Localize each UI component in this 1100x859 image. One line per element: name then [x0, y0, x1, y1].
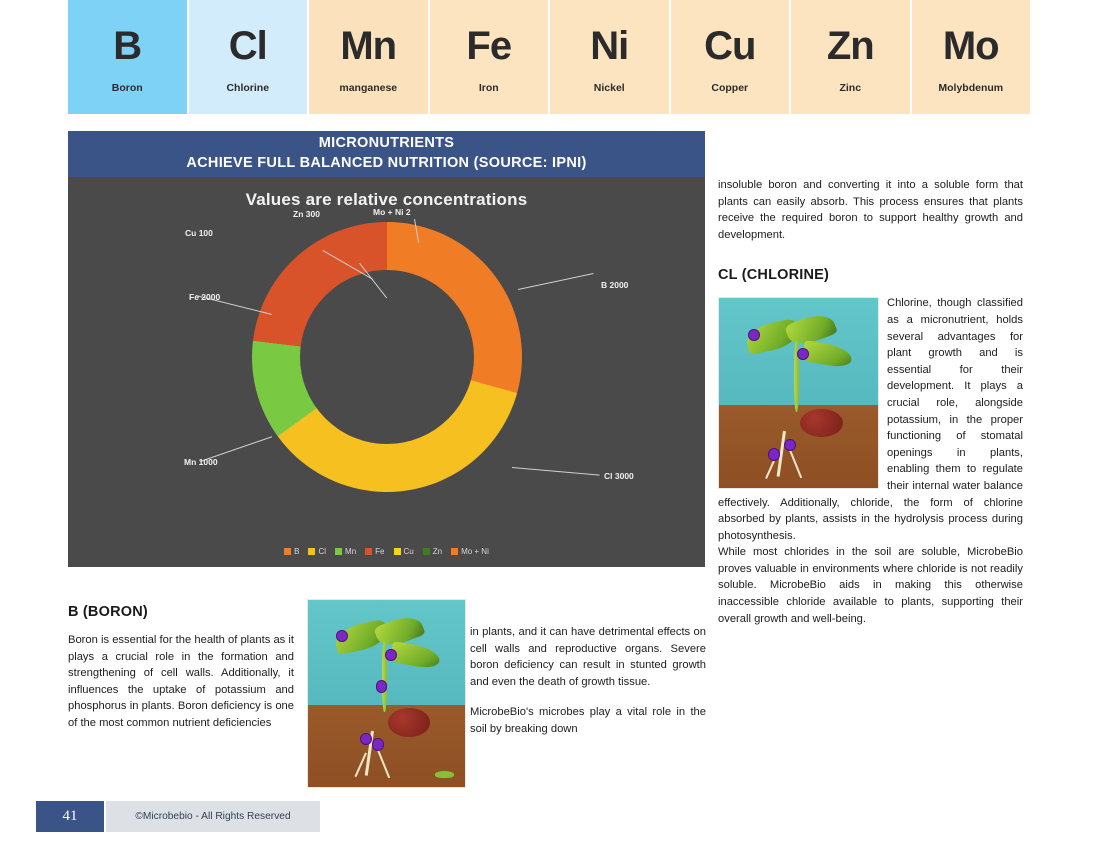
chart-label-b: B 2000 — [601, 280, 628, 290]
page-number-badge: 41 — [36, 801, 104, 832]
chlorine-seedling-image — [718, 297, 879, 489]
element-tab-strip: B Boron Cl Chlorine Mn manganese Fe Iron… — [68, 0, 1030, 114]
chart-label-zn: Zn 300 — [293, 209, 320, 219]
legend-item: Zn — [423, 547, 442, 556]
tab-label: Chlorine — [226, 82, 269, 94]
leader-line — [518, 273, 594, 290]
tab-zinc[interactable]: Zn Zinc — [791, 0, 912, 114]
legend-item: Mn — [335, 547, 356, 556]
legend-swatch — [394, 548, 401, 555]
tab-molybdenum[interactable]: Mo Molybdenum — [912, 0, 1031, 114]
chart-label-cu: Cu 100 — [185, 228, 213, 238]
microbe-dot-icon — [360, 733, 372, 745]
legend-swatch — [451, 548, 458, 555]
legend-label: Cu — [404, 547, 414, 556]
microbe-dot-icon — [372, 738, 384, 750]
chart-label-moni: Mo + Ni 2 — [373, 207, 411, 217]
tab-manganese[interactable]: Mn manganese — [309, 0, 430, 114]
microbe-dot-icon — [797, 348, 809, 360]
tab-copper[interactable]: Cu Copper — [671, 0, 792, 114]
legend-label: Fe — [375, 547, 384, 556]
tab-iron[interactable]: Fe Iron — [430, 0, 551, 114]
tab-symbol: Mn — [340, 26, 396, 66]
chart-legend: BClMnFeCuZnMo + Ni — [68, 547, 705, 556]
tab-label: Zinc — [839, 82, 861, 94]
legend-label: Mn — [345, 547, 356, 556]
legend-swatch — [365, 548, 372, 555]
tab-symbol: Fe — [466, 26, 511, 66]
copyright-notice: ©Microbebio - All Rights Reserved — [106, 801, 320, 832]
chart-label-cl: Cl 3000 — [604, 471, 634, 481]
chart-label-mn: Mn 1000 — [184, 457, 218, 467]
leader-line — [512, 467, 600, 476]
boron-paragraph-2: in plants, and it can have detrimental e… — [470, 624, 706, 690]
microbe-dot-icon — [376, 680, 388, 692]
seed-shape — [388, 708, 430, 736]
boron-section-middle: in plants, and it can have detrimental e… — [470, 624, 706, 738]
legend-item: Cu — [394, 547, 414, 556]
legend-item: B — [284, 547, 299, 556]
tab-label: Nickel — [594, 82, 625, 94]
section-banner: MICRONUTRIENTS ACHIEVE FULL BALANCED NUT… — [68, 131, 705, 177]
microbe-dot-icon — [768, 448, 780, 460]
brand-leaf-icon — [435, 771, 454, 778]
banner-subtitle: ACHIEVE FULL BALANCED NUTRITION (SOURCE:… — [186, 154, 586, 174]
tab-label: manganese — [339, 82, 397, 94]
donut-graphic — [252, 222, 522, 492]
tab-nickel[interactable]: Ni Nickel — [550, 0, 671, 114]
chlorine-paragraph-2: While most chlorides in the soil are sol… — [718, 544, 1023, 627]
legend-label: B — [294, 547, 299, 556]
micronutrient-donut-chart: Values are relative concentrations Zn 30… — [68, 177, 705, 567]
chart-label-fe: Fe 2000 — [189, 292, 220, 302]
boron-paragraph-1: Boron is essential for the health of pla… — [68, 632, 294, 732]
legend-item: Mo + Ni — [451, 547, 489, 556]
tab-symbol: Cl — [229, 26, 267, 66]
legend-item: Cl — [308, 547, 326, 556]
tab-symbol: Cu — [704, 26, 755, 66]
tab-symbol: Ni — [590, 26, 628, 66]
seed-shape — [800, 409, 843, 438]
tab-symbol: B — [113, 26, 141, 66]
legend-label: Zn — [433, 547, 442, 556]
legend-swatch — [284, 548, 291, 555]
microbe-dot-icon — [336, 630, 348, 642]
boron-paragraph-4: insoluble boron and converting it into a… — [718, 177, 1023, 243]
boron-seedling-image — [307, 599, 466, 788]
chlorine-heading: CL (CHLORINE) — [718, 267, 1023, 283]
boron-section-left: B (BORON) Boron is essential for the hea… — [68, 604, 294, 732]
right-column: insoluble boron and converting it into a… — [718, 177, 1023, 627]
banner-title: MICRONUTRIENTS — [319, 134, 455, 154]
tab-label: Iron — [479, 82, 499, 94]
donut-hole — [300, 270, 474, 444]
tab-boron[interactable]: B Boron — [68, 0, 189, 114]
boron-heading: B (BORON) — [68, 604, 294, 620]
legend-label: Cl — [318, 547, 326, 556]
legend-label: Mo + Ni — [461, 547, 489, 556]
tab-label: Boron — [112, 82, 143, 94]
tab-symbol: Zn — [827, 26, 874, 66]
legend-item: Fe — [365, 547, 384, 556]
tab-symbol: Mo — [943, 26, 999, 66]
legend-swatch — [335, 548, 342, 555]
legend-swatch — [308, 548, 315, 555]
tab-chlorine[interactable]: Cl Chlorine — [189, 0, 310, 114]
boron-paragraph-3: MicrobeBio's microbes play a vital role … — [470, 704, 706, 737]
legend-swatch — [423, 548, 430, 555]
microbe-dot-icon — [385, 649, 397, 661]
tab-label: Molybdenum — [938, 82, 1003, 94]
microbe-dot-icon — [748, 329, 760, 341]
tab-label: Copper — [711, 82, 748, 94]
